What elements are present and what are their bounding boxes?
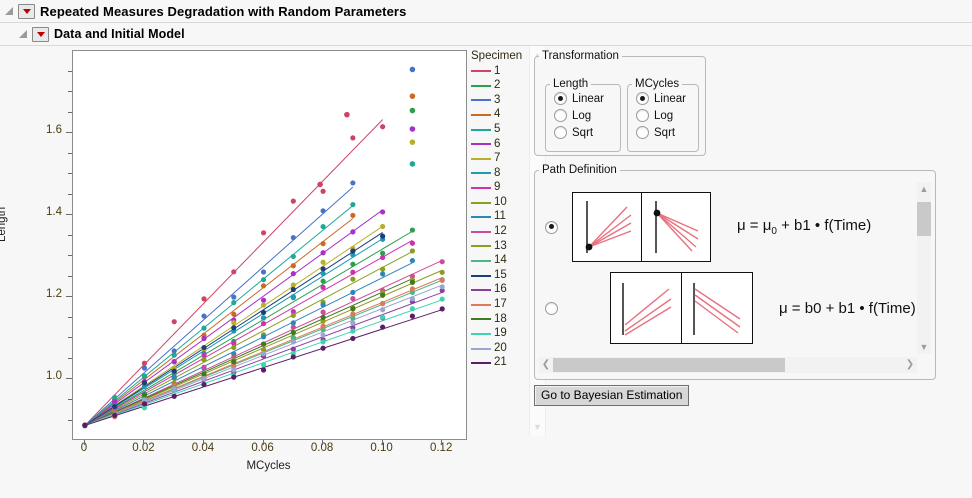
legend-color-swatch — [471, 304, 491, 306]
data-point[interactable] — [291, 354, 296, 359]
legend-item-label: 11 — [494, 211, 506, 223]
scroll-up-arrow-icon[interactable]: ▲ — [917, 182, 931, 196]
data-point[interactable] — [261, 310, 266, 315]
data-point[interactable] — [291, 282, 296, 287]
legend-item[interactable]: 9 — [471, 181, 527, 196]
data-point[interactable] — [350, 202, 355, 207]
legend-color-swatch — [471, 260, 491, 262]
data-point[interactable] — [201, 296, 206, 301]
plot-area[interactable] — [72, 50, 467, 440]
data-point[interactable] — [350, 296, 355, 301]
legend-item-label: 17 — [494, 299, 507, 311]
legend-item[interactable]: 18 — [471, 312, 527, 327]
path-thumbnail-decreasing-free-intercept-icon — [682, 272, 753, 344]
legend-color-swatch — [471, 158, 491, 160]
data-point[interactable] — [231, 312, 236, 317]
legend-item-label: 6 — [494, 139, 500, 151]
legend-color-swatch — [471, 216, 491, 218]
legend-title: Specimen — [471, 50, 527, 62]
legend-item[interactable]: 21 — [471, 356, 527, 371]
legend-item-label: 1 — [494, 66, 500, 78]
data-point[interactable] — [201, 313, 206, 318]
fitted-line — [85, 206, 353, 426]
legend-color-swatch — [471, 143, 491, 145]
data-point[interactable] — [231, 345, 236, 350]
path-option-2-thumbnails[interactable] — [610, 272, 753, 344]
radio-icon[interactable] — [636, 126, 649, 139]
data-point[interactable] — [231, 375, 236, 380]
disclosure-triangle-icon[interactable] — [4, 6, 14, 16]
data-point[interactable] — [350, 290, 355, 295]
legend-item-label: 13 — [494, 241, 507, 253]
go-to-bayesian-estimation-button[interactable]: Go to Bayesian Estimation — [534, 385, 689, 406]
path-definition-vertical-scrollbar[interactable]: ▲ ▼ — [917, 182, 931, 354]
data-point[interactable] — [320, 266, 325, 271]
data-point[interactable] — [440, 270, 445, 275]
fitted-line — [85, 263, 413, 426]
outline-header-level1[interactable]: Repeated Measures Degradation with Rando… — [0, 0, 972, 23]
mcycles-option-log[interactable]: Log — [628, 107, 698, 124]
data-point[interactable] — [320, 241, 325, 246]
scrollbar-thumb[interactable] — [553, 358, 785, 372]
legend-color-swatch — [471, 348, 491, 350]
data-point[interactable] — [380, 301, 385, 306]
legend-color-swatch — [471, 289, 491, 291]
data-point[interactable] — [261, 298, 266, 303]
data-point[interactable] — [380, 271, 385, 276]
data-point[interactable] — [350, 329, 355, 334]
path-thumbnail-decreasing-fixed-intercept-icon — [642, 192, 711, 262]
scroll-left-arrow-icon[interactable]: ❮ — [539, 357, 553, 373]
data-point[interactable] — [350, 311, 355, 316]
data-point[interactable] — [142, 365, 147, 370]
transformation-group-title: Transformation — [539, 50, 622, 62]
data-point[interactable] — [410, 93, 416, 99]
option-label: Linear — [654, 93, 686, 105]
data-point[interactable] — [440, 284, 445, 289]
data-point[interactable] — [201, 345, 206, 350]
fitted-line — [85, 219, 353, 426]
length-transform-group: Length Linear Log Sqrt — [545, 78, 621, 152]
data-point[interactable] — [291, 271, 296, 276]
data-point[interactable] — [320, 208, 325, 213]
x-axis-label: MCycles — [72, 460, 465, 472]
radio-icon[interactable] — [554, 92, 567, 105]
fitted-line — [85, 187, 353, 425]
data-point[interactable] — [350, 248, 355, 253]
data-point[interactable] — [320, 339, 325, 344]
data-point[interactable] — [410, 108, 416, 114]
report-body: Length 1.01.21.41.6 00.020.040.060.080.1… — [0, 46, 972, 498]
data-point[interactable] — [350, 180, 355, 185]
data-point[interactable] — [380, 224, 385, 229]
data-point[interactable] — [291, 325, 296, 330]
legend-item-label: 18 — [494, 314, 507, 326]
data-point[interactable] — [201, 352, 206, 357]
data-point[interactable] — [201, 365, 206, 370]
option-label: Sqrt — [572, 127, 593, 139]
legend-color-swatch — [471, 187, 491, 189]
data-point[interactable] — [320, 285, 325, 290]
degradation-chart: Length 1.01.21.41.6 00.020.040.060.080.1… — [0, 46, 528, 498]
radio-icon[interactable] — [636, 109, 649, 122]
data-point[interactable] — [231, 359, 236, 364]
legend-item[interactable]: 14 — [471, 254, 527, 269]
data-point[interactable] — [344, 112, 350, 118]
data-point[interactable] — [172, 386, 177, 391]
radio-icon[interactable] — [636, 92, 649, 105]
data-point[interactable] — [380, 255, 385, 260]
data-point[interactable] — [201, 371, 206, 376]
path-option-1[interactable]: μ = μ0 + b1 • f(Time) — [545, 192, 871, 262]
legend-color-swatch — [471, 275, 491, 277]
data-point[interactable] — [261, 302, 266, 307]
path-definition-scroll-content: μ = μ0 + b1 • f(Time) — [541, 182, 915, 370]
legend-item[interactable]: 4 — [471, 108, 527, 123]
legend-item[interactable]: 3 — [471, 93, 527, 108]
legend-item-label: 4 — [494, 109, 500, 121]
data-point[interactable] — [261, 321, 266, 326]
mcycles-transform-group: MCycles Linear Log Sqrt — [627, 78, 699, 152]
plot-canvas — [73, 51, 466, 439]
radio-icon[interactable] — [545, 302, 558, 315]
mcycles-option-sqrt[interactable]: Sqrt — [628, 124, 698, 141]
data-point[interactable] — [410, 139, 416, 145]
data-point[interactable] — [112, 404, 117, 409]
data-point[interactable] — [201, 357, 206, 362]
data-point[interactable] — [172, 368, 177, 373]
mcycles-group-title: MCycles — [632, 78, 682, 90]
path-definition-title: Path Definition — [539, 164, 620, 176]
y-axis-label: Length — [0, 207, 8, 242]
data-point[interactable] — [410, 227, 415, 232]
length-option-log[interactable]: Log — [546, 107, 620, 124]
data-point[interactable] — [261, 367, 266, 372]
data-point[interactable] — [291, 313, 296, 318]
data-point[interactable] — [291, 254, 296, 259]
data-point[interactable] — [261, 341, 266, 346]
legend-item[interactable]: 6 — [471, 137, 527, 152]
legend-item-label: 8 — [494, 168, 500, 180]
data-point[interactable] — [261, 269, 266, 274]
data-point[interactable] — [380, 267, 385, 272]
data-point[interactable] — [350, 262, 355, 267]
data-point[interactable] — [261, 351, 266, 356]
legend-item-label: 5 — [494, 124, 500, 136]
legend-item-label: 16 — [494, 284, 507, 296]
radio-icon[interactable] — [545, 221, 558, 234]
legend-item[interactable]: 8 — [471, 166, 527, 181]
data-point[interactable] — [201, 336, 206, 341]
data-point[interactable] — [172, 375, 177, 380]
data-point[interactable] — [410, 280, 415, 285]
data-point[interactable] — [380, 234, 385, 239]
legend-item-label: 2 — [494, 80, 500, 92]
data-point[interactable] — [350, 213, 355, 218]
data-point[interactable] — [320, 189, 325, 194]
legend-item[interactable]: 15 — [471, 268, 527, 283]
data-point[interactable] — [291, 287, 296, 292]
data-point[interactable] — [291, 263, 296, 268]
option-label: Linear — [572, 93, 604, 105]
data-point[interactable] — [201, 382, 206, 387]
data-point[interactable] — [231, 320, 236, 325]
fitted-line — [85, 240, 413, 425]
data-point[interactable] — [410, 306, 415, 311]
legend-item-label: 10 — [494, 197, 507, 209]
legend-item[interactable]: 17 — [471, 298, 527, 313]
data-point[interactable] — [410, 241, 415, 246]
section-title: Data and Initial Model — [54, 27, 185, 41]
data-point[interactable] — [82, 423, 87, 428]
path-option-2-equation: μ = b0 + b1 • f(Time) — [779, 300, 915, 317]
path-option-1-equation: μ = μ0 + b1 • f(Time) — [737, 217, 871, 237]
outline-header-level2[interactable]: Data and Initial Model — [0, 23, 972, 46]
data-point[interactable] — [291, 235, 296, 240]
data-point[interactable] — [350, 270, 355, 275]
data-point[interactable] — [380, 307, 385, 312]
legend-item[interactable]: 5 — [471, 122, 527, 137]
path-definition-group: Path Definition — [534, 164, 936, 380]
path-thumbnail-increasing-free-intercept-icon — [610, 272, 682, 344]
data-point[interactable] — [142, 361, 147, 366]
data-point[interactable] — [142, 401, 147, 406]
path-option-1-thumbnails[interactable] — [572, 192, 711, 262]
legend-item-label: 7 — [494, 153, 500, 165]
legend-item-label: 14 — [494, 255, 507, 267]
data-point[interactable] — [350, 336, 355, 341]
y-tick-label: 1.2 — [22, 288, 62, 300]
data-point[interactable] — [261, 362, 266, 367]
data-point[interactable] — [261, 315, 266, 320]
data-point[interactable] — [172, 353, 177, 358]
legend-color-swatch — [471, 245, 491, 247]
scroll-right-arrow-icon[interactable]: ❯ — [903, 357, 917, 373]
data-point[interactable] — [172, 394, 177, 399]
mcycles-option-linear[interactable]: Linear — [628, 90, 698, 107]
path-thumbnail-increasing-fixed-intercept-icon — [572, 192, 642, 262]
data-point[interactable] — [142, 373, 147, 378]
legend-color-swatch — [471, 129, 491, 131]
data-point[interactable] — [112, 395, 117, 400]
radio-icon[interactable] — [554, 109, 567, 122]
data-point[interactable] — [320, 332, 325, 337]
path-definition-horizontal-scrollbar[interactable]: ❮ ❯ — [539, 357, 917, 373]
length-group-title: Length — [550, 78, 591, 90]
data-point[interactable] — [320, 310, 325, 315]
disclosure-triangle-icon[interactable] — [18, 29, 28, 39]
legend-item-list: 123456789101112131415161718192021 — [471, 64, 527, 370]
legend-item-label: 3 — [494, 95, 500, 107]
legend-color-swatch — [471, 70, 491, 72]
data-point[interactable] — [261, 277, 266, 282]
legend-color-swatch — [471, 202, 491, 204]
legend-item[interactable]: 13 — [471, 239, 527, 254]
legend-item[interactable]: 10 — [471, 195, 527, 210]
data-point[interactable] — [350, 320, 355, 325]
red-triangle-menu-icon[interactable] — [18, 4, 35, 19]
data-point[interactable] — [350, 277, 355, 282]
legend-color-swatch — [471, 99, 491, 101]
data-point[interactable] — [380, 209, 385, 214]
data-point[interactable] — [317, 182, 323, 188]
data-point[interactable] — [231, 367, 236, 372]
data-point[interactable] — [410, 314, 415, 319]
data-point[interactable] — [350, 229, 355, 234]
y-tick-label: 1.4 — [22, 206, 62, 218]
data-point[interactable] — [320, 346, 325, 351]
data-point[interactable] — [380, 293, 385, 298]
data-point[interactable] — [320, 224, 325, 229]
data-point[interactable] — [410, 296, 415, 301]
legend-item[interactable]: 20 — [471, 341, 527, 356]
data-point[interactable] — [291, 330, 296, 335]
length-option-sqrt[interactable]: Sqrt — [546, 124, 620, 141]
data-point[interactable] — [291, 294, 296, 299]
data-point[interactable] — [261, 283, 266, 288]
legend-color-swatch — [471, 362, 491, 364]
data-point[interactable] — [172, 359, 177, 364]
data-point[interactable] — [231, 300, 236, 305]
data-point[interactable] — [440, 278, 445, 283]
data-point[interactable] — [231, 325, 236, 330]
data-point[interactable] — [291, 199, 296, 204]
legend-item-label: 9 — [494, 182, 500, 194]
legend-color-swatch — [471, 318, 491, 320]
data-point[interactable] — [291, 339, 296, 344]
data-point[interactable] — [172, 319, 177, 324]
legend-item-label: 12 — [494, 226, 507, 238]
legend-color-swatch — [471, 85, 491, 87]
data-point[interactable] — [320, 250, 325, 255]
length-option-linear[interactable]: Linear — [546, 90, 620, 107]
scroll-down-arrow-icon[interactable]: ▼ — [917, 340, 931, 354]
legend-item[interactable]: 16 — [471, 283, 527, 298]
legend-item-label: 15 — [494, 270, 507, 282]
data-point[interactable] — [440, 306, 445, 311]
data-point[interactable] — [231, 295, 236, 300]
radio-icon[interactable] — [554, 126, 567, 139]
data-point[interactable] — [142, 380, 147, 385]
data-point[interactable] — [142, 393, 147, 398]
data-point[interactable] — [201, 376, 206, 381]
data-point[interactable] — [261, 230, 266, 235]
data-point[interactable] — [350, 306, 355, 311]
option-label: Log — [572, 110, 591, 122]
y-tick-label: 1.0 — [22, 370, 62, 382]
transformation-group: Transformation Length Linear Log Sqrt MC… — [534, 50, 706, 156]
data-point[interactable] — [410, 248, 415, 253]
option-label: Sqrt — [654, 127, 675, 139]
y-tick-label: 1.6 — [22, 124, 62, 136]
legend-color-swatch — [471, 231, 491, 233]
data-point[interactable] — [410, 67, 416, 73]
data-point[interactable] — [320, 315, 325, 320]
legend-item[interactable]: 7 — [471, 152, 527, 167]
legend-color-swatch — [471, 172, 491, 174]
legend-color-swatch — [471, 114, 491, 116]
legend-item-label: 19 — [494, 328, 507, 340]
data-point[interactable] — [380, 124, 385, 129]
chart-legend: Specimen 1234567891011121314151617181920… — [471, 50, 527, 370]
page-title: Repeated Measures Degradation with Rando… — [40, 4, 406, 19]
data-point[interactable] — [410, 286, 415, 291]
legend-item-label: 21 — [494, 357, 507, 369]
legend-item[interactable]: 19 — [471, 327, 527, 342]
fitted-line — [85, 252, 413, 426]
data-point[interactable] — [320, 302, 325, 307]
scrollbar-thumb[interactable] — [917, 202, 931, 236]
option-label: Log — [654, 110, 673, 122]
data-point[interactable] — [410, 161, 416, 167]
control-pane: Transformation Length Linear Log Sqrt MC… — [528, 46, 948, 498]
fitted-line — [85, 279, 413, 426]
data-point[interactable] — [320, 279, 325, 284]
data-point[interactable] — [261, 334, 266, 339]
data-point[interactable] — [320, 271, 325, 276]
data-point[interactable] — [410, 126, 416, 132]
fitted-line — [85, 231, 413, 425]
legend-color-swatch — [471, 333, 491, 335]
data-point[interactable] — [320, 260, 325, 265]
red-triangle-menu-icon[interactable] — [32, 27, 49, 42]
data-point[interactable] — [231, 269, 236, 274]
data-point[interactable] — [440, 259, 445, 264]
data-point[interactable] — [410, 258, 415, 263]
data-point[interactable] — [320, 324, 325, 329]
data-point[interactable] — [380, 325, 385, 330]
data-point[interactable] — [440, 296, 445, 301]
path-option-2[interactable]: μ = b0 + b1 • f(Time) — [545, 272, 915, 344]
legend-item-label: 20 — [494, 343, 507, 355]
data-point[interactable] — [112, 413, 117, 418]
legend-item[interactable]: 2 — [471, 79, 527, 94]
data-point[interactable] — [350, 135, 355, 140]
legend-item[interactable]: 1 — [471, 64, 527, 79]
legend-item[interactable]: 11 — [471, 210, 527, 225]
data-point[interactable] — [380, 315, 385, 320]
legend-item[interactable]: 12 — [471, 225, 527, 240]
data-point[interactable] — [201, 326, 206, 331]
